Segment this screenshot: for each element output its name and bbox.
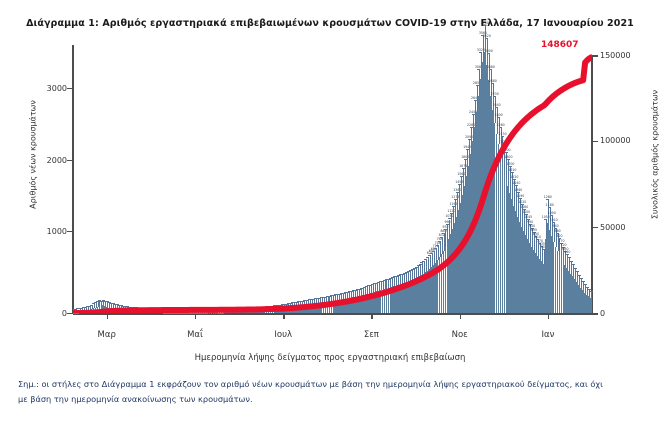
total-cases-annotation: 148607 [541,40,579,50]
x-tick-3 [371,314,372,319]
x-tick-2 [283,314,284,319]
y-tick-label-right-0: 0 [600,309,652,318]
bar-value-label: 3700 [481,21,489,25]
bar-whisker-cap [485,38,488,39]
x-tick-4 [460,314,461,319]
y-tick-label-left-0: 0 [27,309,67,318]
x-tick-label-0: Μαρ [79,330,135,340]
right-axis-cap-top [592,55,598,57]
bar-value-label: 3520 [483,34,491,38]
page-title: Διάγραμμα 1: Αριθμός εργαστηριακά επιβεβ… [0,18,660,29]
x-tick-label-1: Μαΐ [167,330,223,340]
cumulative-line-path [74,57,591,313]
y-tick-label-right-2: 100000 [600,136,652,145]
x-axis-title: Ημερομηνία λήψης δείγματος προς εργαστηρ… [0,353,660,363]
y-axis-right-title: Συνολικός αριθμός κρουσμάτων [651,60,660,250]
x-axis-line [73,313,592,315]
footnote-line-1: Σημ.: οι στήλες στο Διάγραμμα 1 εκφράζου… [18,377,646,392]
x-tick-label-3: Σεπ [343,330,399,340]
plot-area: 6256506807127487888328809329901052112011… [73,45,592,313]
y-axis-left-title: Αριθμός νέων κρουσμάτων [29,65,38,245]
x-tick-0 [107,314,108,319]
right-axis-cap-bottom [592,313,598,315]
y-tick-right-2 [593,141,598,142]
x-tick-5 [548,314,549,319]
x-tick-label-4: Νοε [432,330,488,340]
y-tick-left-0 [67,313,72,314]
footnote-line-2: με βάση την ημερομηνία ανακοίνωσης των κ… [18,392,646,407]
y-tick-right-1 [593,227,598,228]
bar-whisker-cap [483,25,486,26]
y-tick-left-1 [67,231,72,232]
y-tick-label-right-1: 50000 [600,223,652,232]
cumulative-line-series [73,45,592,313]
y-tick-left-2 [67,160,72,161]
x-tick-label-5: Ιαν [520,330,576,340]
x-tick-1 [195,314,196,319]
footnote: Σημ.: οι στήλες στο Διάγραμμα 1 εκφράζου… [18,377,646,407]
chart-page: Διάγραμμα 1: Αριθμός εργαστηριακά επιβεβ… [0,0,660,421]
y-tick-label-right-3: 150000 [600,51,652,60]
x-tick-label-2: Ιουλ [255,330,311,340]
y-tick-left-3 [67,88,72,89]
